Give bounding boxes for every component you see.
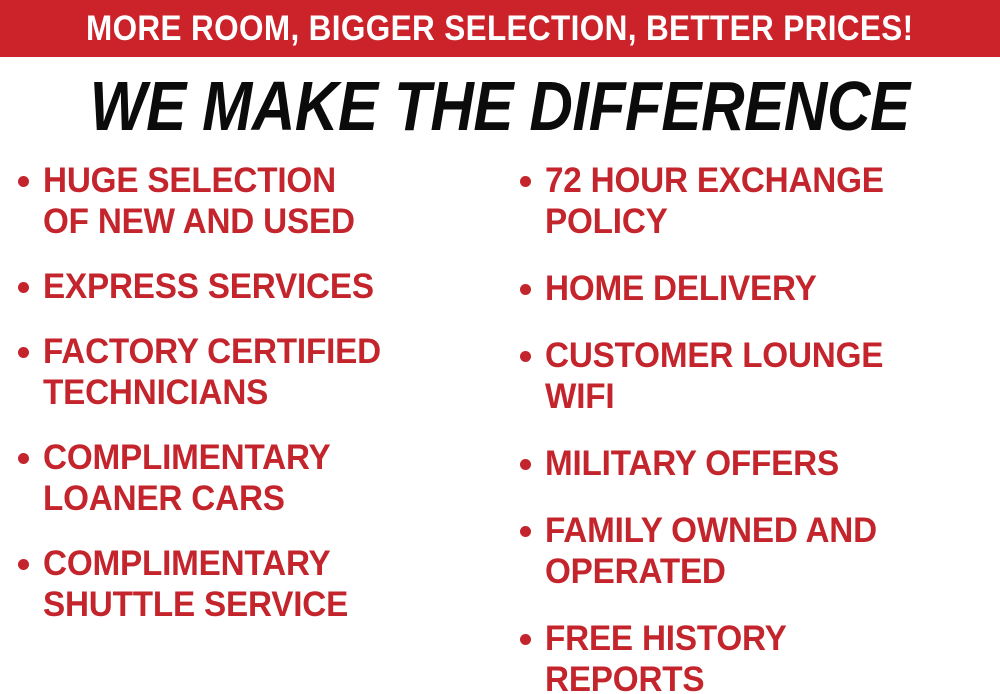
list-item: FAMILY OWNED AND OPERATED [520, 510, 992, 592]
list-item-label: MILITARY OFFERS [545, 443, 970, 484]
bullet-dot-icon [520, 459, 531, 470]
features-column-right: 72 HOUR EXCHANGE POLICY HOME DELIVERY CU… [500, 160, 1000, 680]
features-columns: HUGE SELECTION OF NEW AND USED EXPRESS S… [0, 160, 1000, 680]
promo-poster: MORE ROOM, BIGGER SELECTION, BETTER PRIC… [0, 0, 1000, 694]
list-item: 72 HOUR EXCHANGE POLICY [520, 160, 992, 242]
list-item: EXPRESS SERVICES [18, 266, 494, 307]
list-item: COMPLIMENTARY SHUTTLE SERVICE [18, 543, 494, 625]
list-item: FACTORY CERTIFIED TECHNICIANS [18, 331, 494, 413]
bullet-dot-icon [520, 176, 531, 187]
list-item: MILITARY OFFERS [520, 443, 992, 484]
banner-headline: MORE ROOM, BIGGER SELECTION, BETTER PRIC… [86, 10, 914, 47]
list-item-label: HOME DELIVERY [545, 268, 970, 309]
list-item: CUSTOMER LOUNGE WIFI [520, 335, 992, 417]
bullet-dot-icon [520, 634, 531, 645]
bullet-dot-icon [520, 526, 531, 537]
list-item-label: FREE HISTORY REPORTS [545, 618, 970, 694]
bullet-dot-icon [18, 453, 29, 464]
headline-text: WE MAKE THE DIFFERENCE [90, 70, 910, 142]
bullet-dot-icon [520, 284, 531, 295]
features-column-left: HUGE SELECTION OF NEW AND USED EXPRESS S… [0, 160, 500, 680]
list-item-label: EXPRESS SERVICES [43, 266, 471, 307]
list-item-label: FAMILY OWNED AND OPERATED [545, 510, 970, 592]
headline: WE MAKE THE DIFFERENCE [0, 70, 1000, 142]
list-item: HUGE SELECTION OF NEW AND USED [18, 160, 494, 242]
bullet-dot-icon [520, 351, 531, 362]
list-item-label: FACTORY CERTIFIED TECHNICIANS [43, 331, 471, 413]
list-item-label: HUGE SELECTION OF NEW AND USED [43, 160, 471, 242]
bullet-dot-icon [18, 176, 29, 187]
bullet-dot-icon [18, 347, 29, 358]
top-banner: MORE ROOM, BIGGER SELECTION, BETTER PRIC… [0, 0, 1000, 57]
bullet-dot-icon [18, 282, 29, 293]
list-item-label: COMPLIMENTARY LOANER CARS [43, 437, 471, 519]
list-item-label: COMPLIMENTARY SHUTTLE SERVICE [43, 543, 471, 625]
list-item-label: CUSTOMER LOUNGE WIFI [545, 335, 970, 417]
bullet-dot-icon [18, 559, 29, 570]
list-item: HOME DELIVERY [520, 268, 992, 309]
list-item-label: 72 HOUR EXCHANGE POLICY [545, 160, 970, 242]
list-item: COMPLIMENTARY LOANER CARS [18, 437, 494, 519]
list-item: FREE HISTORY REPORTS [520, 618, 992, 694]
